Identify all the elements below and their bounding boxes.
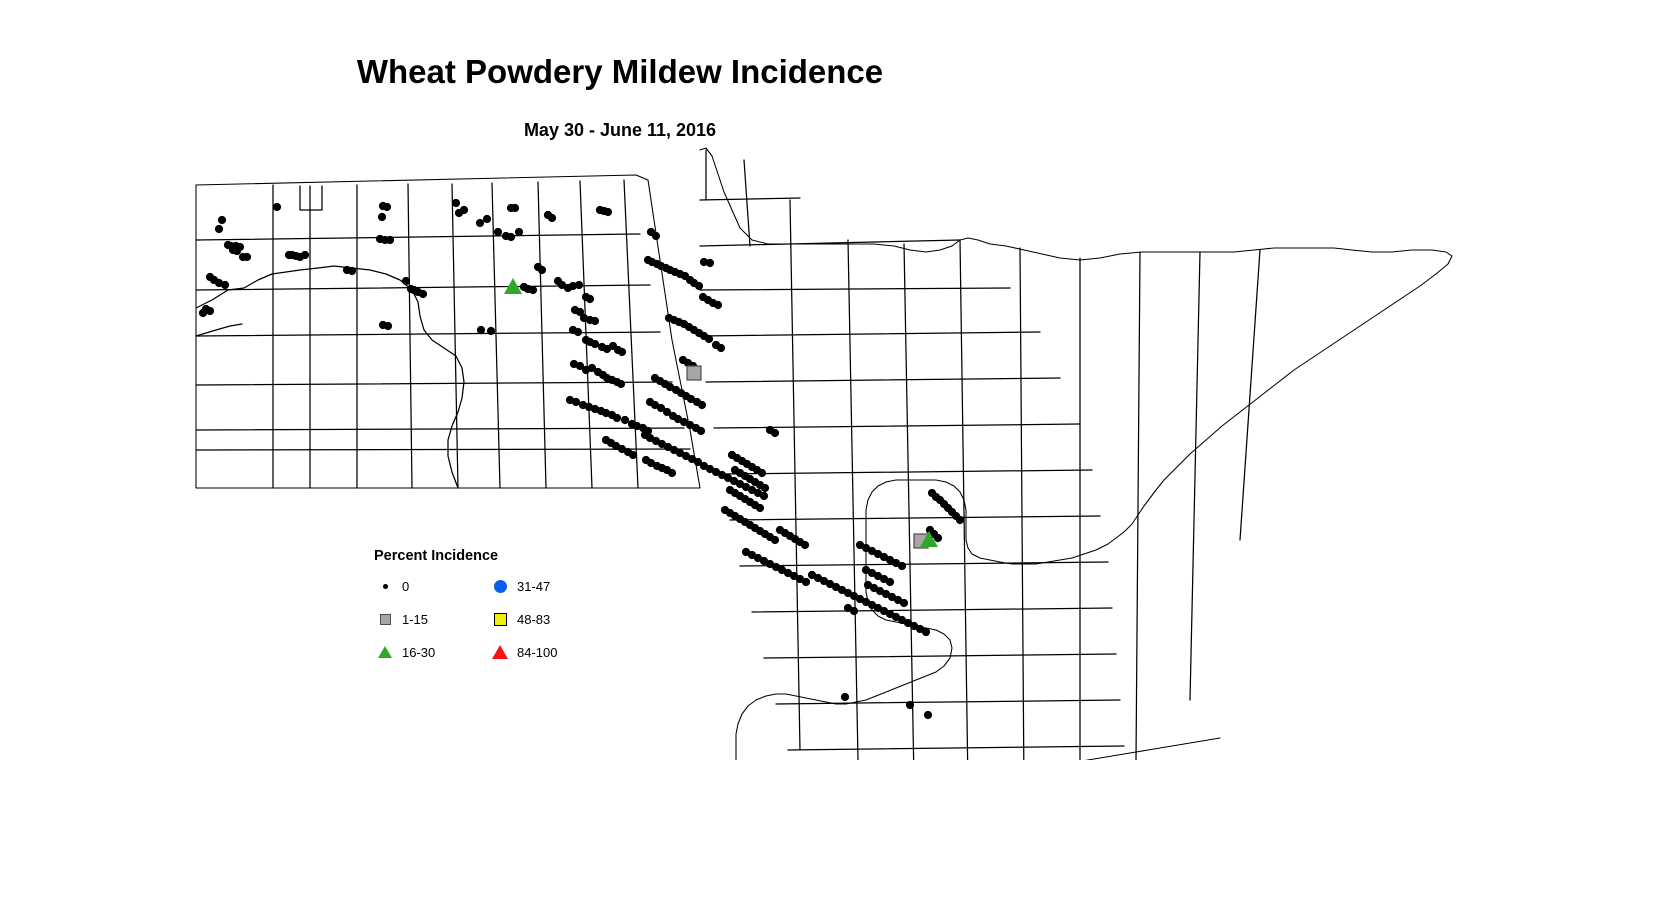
minnesota-counties [700,148,1452,760]
incidence-marker-zero [706,259,714,267]
incidence-marker-zero [476,219,484,227]
incidence-marker-zero [199,309,207,317]
incidence-marker-zero [574,328,582,336]
legend-column-left: 0 1-15 16-30 [374,578,489,660]
incidence-marker-zero [221,281,229,289]
incidence-marker-zero [529,286,537,294]
map-legend: Percent Incidence 0 1-15 16-30 [374,548,614,674]
incidence-marker-zero [934,534,942,542]
incidence-marker-zero [494,228,502,236]
incidence-marker-zero [758,469,766,477]
incidence-marker-zero [591,340,599,348]
blue-circle-icon [489,578,511,594]
incidence-marker-zero [483,215,491,223]
incidence-marker-zero [383,203,391,211]
legend-item-1-15[interactable]: 1-15 [374,611,489,627]
incidence-marker-zero [572,398,580,406]
legend-item-label: 0 [402,579,409,594]
incidence-marker-zero [922,628,930,636]
incidence-marker-zero [850,607,858,615]
incidence-marker-zero [233,247,241,255]
incidence-marker-zero [548,214,556,222]
incidence-marker-zero [621,416,629,424]
incidence-marker-zero [705,335,713,343]
page-title: Wheat Powdery Mildew Incidence [0,52,1240,92]
incidence-marker-zero [698,401,706,409]
yellow-square-icon [489,611,511,627]
incidence-marker-zero [802,578,810,586]
incidence-marker-zero [402,277,410,285]
incidence-marker-zero [575,281,583,289]
incidence-marker-zero [460,206,468,214]
incidence-marker-zero [841,693,849,701]
incidence-marker-zero [956,516,964,524]
incidence-marker-zero [591,317,599,325]
incidence-marker-zero [761,484,769,492]
state-county-map [0,140,1673,760]
legend-columns: 0 1-15 16-30 31-47 48-83 [374,578,614,660]
incidence-marker-zero [206,307,214,315]
incidence-marker-zero [695,282,703,290]
incidence-marker-1-15 [687,366,701,380]
incidence-marker-zero [771,429,779,437]
incidence-marker-zero [452,199,460,207]
small-black-dot-icon [374,578,396,594]
incidence-marker-zero [714,301,722,309]
incidence-marker-zero [586,295,594,303]
incidence-marker-zero [717,344,725,352]
incidence-marker-zero [538,266,546,274]
legend-item-84-100[interactable]: 84-100 [489,644,614,660]
incidence-marker-zero [243,253,251,261]
legend-item-16-30[interactable]: 16-30 [374,644,489,660]
map-canvas [0,140,1673,760]
legend-item-label: 16-30 [402,645,435,660]
incidence-marker-zero [386,236,394,244]
incidence-marker-zero [617,380,625,388]
incidence-marker-zero [487,327,495,335]
incidence-marker-zero [668,469,676,477]
page-subtitle: May 30 - June 11, 2016 [0,120,1240,141]
gray-square-icon [374,611,396,627]
legend-item-label: 1-15 [402,612,428,627]
green-triangle-icon [374,644,396,660]
incidence-marker-zero [301,251,309,259]
legend-item-label: 48-83 [517,612,550,627]
incidence-marker-zero [348,267,356,275]
incidence-marker-zero [218,216,226,224]
incidence-marker-zero [613,414,621,422]
title-block: Wheat Powdery Mildew Incidence [0,52,1240,92]
incidence-marker-zero [900,599,908,607]
incidence-marker-zero [652,232,660,240]
incidence-marker-zero [629,451,637,459]
legend-item-label: 84-100 [517,645,557,660]
incidence-marker-zero [419,290,427,298]
legend-item-0[interactable]: 0 [374,578,489,594]
incidence-marker-zero [515,228,523,236]
incidence-marker-zero [756,504,764,512]
legend-item-31-47[interactable]: 31-47 [489,578,614,594]
red-triangle-icon [489,644,511,660]
legend-item-48-83[interactable]: 48-83 [489,611,614,627]
incidence-marker-zero [886,578,894,586]
legend-column-right: 31-47 48-83 84-100 [489,578,614,660]
incidence-marker-zero [511,204,519,212]
map-figure-page: Wheat Powdery Mildew Incidence May 30 - … [0,0,1673,900]
legend-item-label: 31-47 [517,579,550,594]
incidence-marker-zero [507,233,515,241]
north-dakota-counties [196,175,700,488]
incidence-marker-zero [618,348,626,356]
incidence-marker-zero [215,225,223,233]
incidence-marker-zero [477,326,485,334]
incidence-marker-zero [697,427,705,435]
legend-title: Percent Incidence [374,548,614,564]
incidence-marker-zero [906,701,914,709]
incidence-marker-zero [760,492,768,500]
incidence-marker-zero [924,711,932,719]
incidence-marker-zero [273,203,281,211]
incidence-marker-zero [898,562,906,570]
incidence-marker-zero [771,536,779,544]
incidence-marker-zero [604,208,612,216]
incidence-marker-zero [384,322,392,330]
incidence-marker-zero [378,213,386,221]
incidence-marker-zero [801,541,809,549]
